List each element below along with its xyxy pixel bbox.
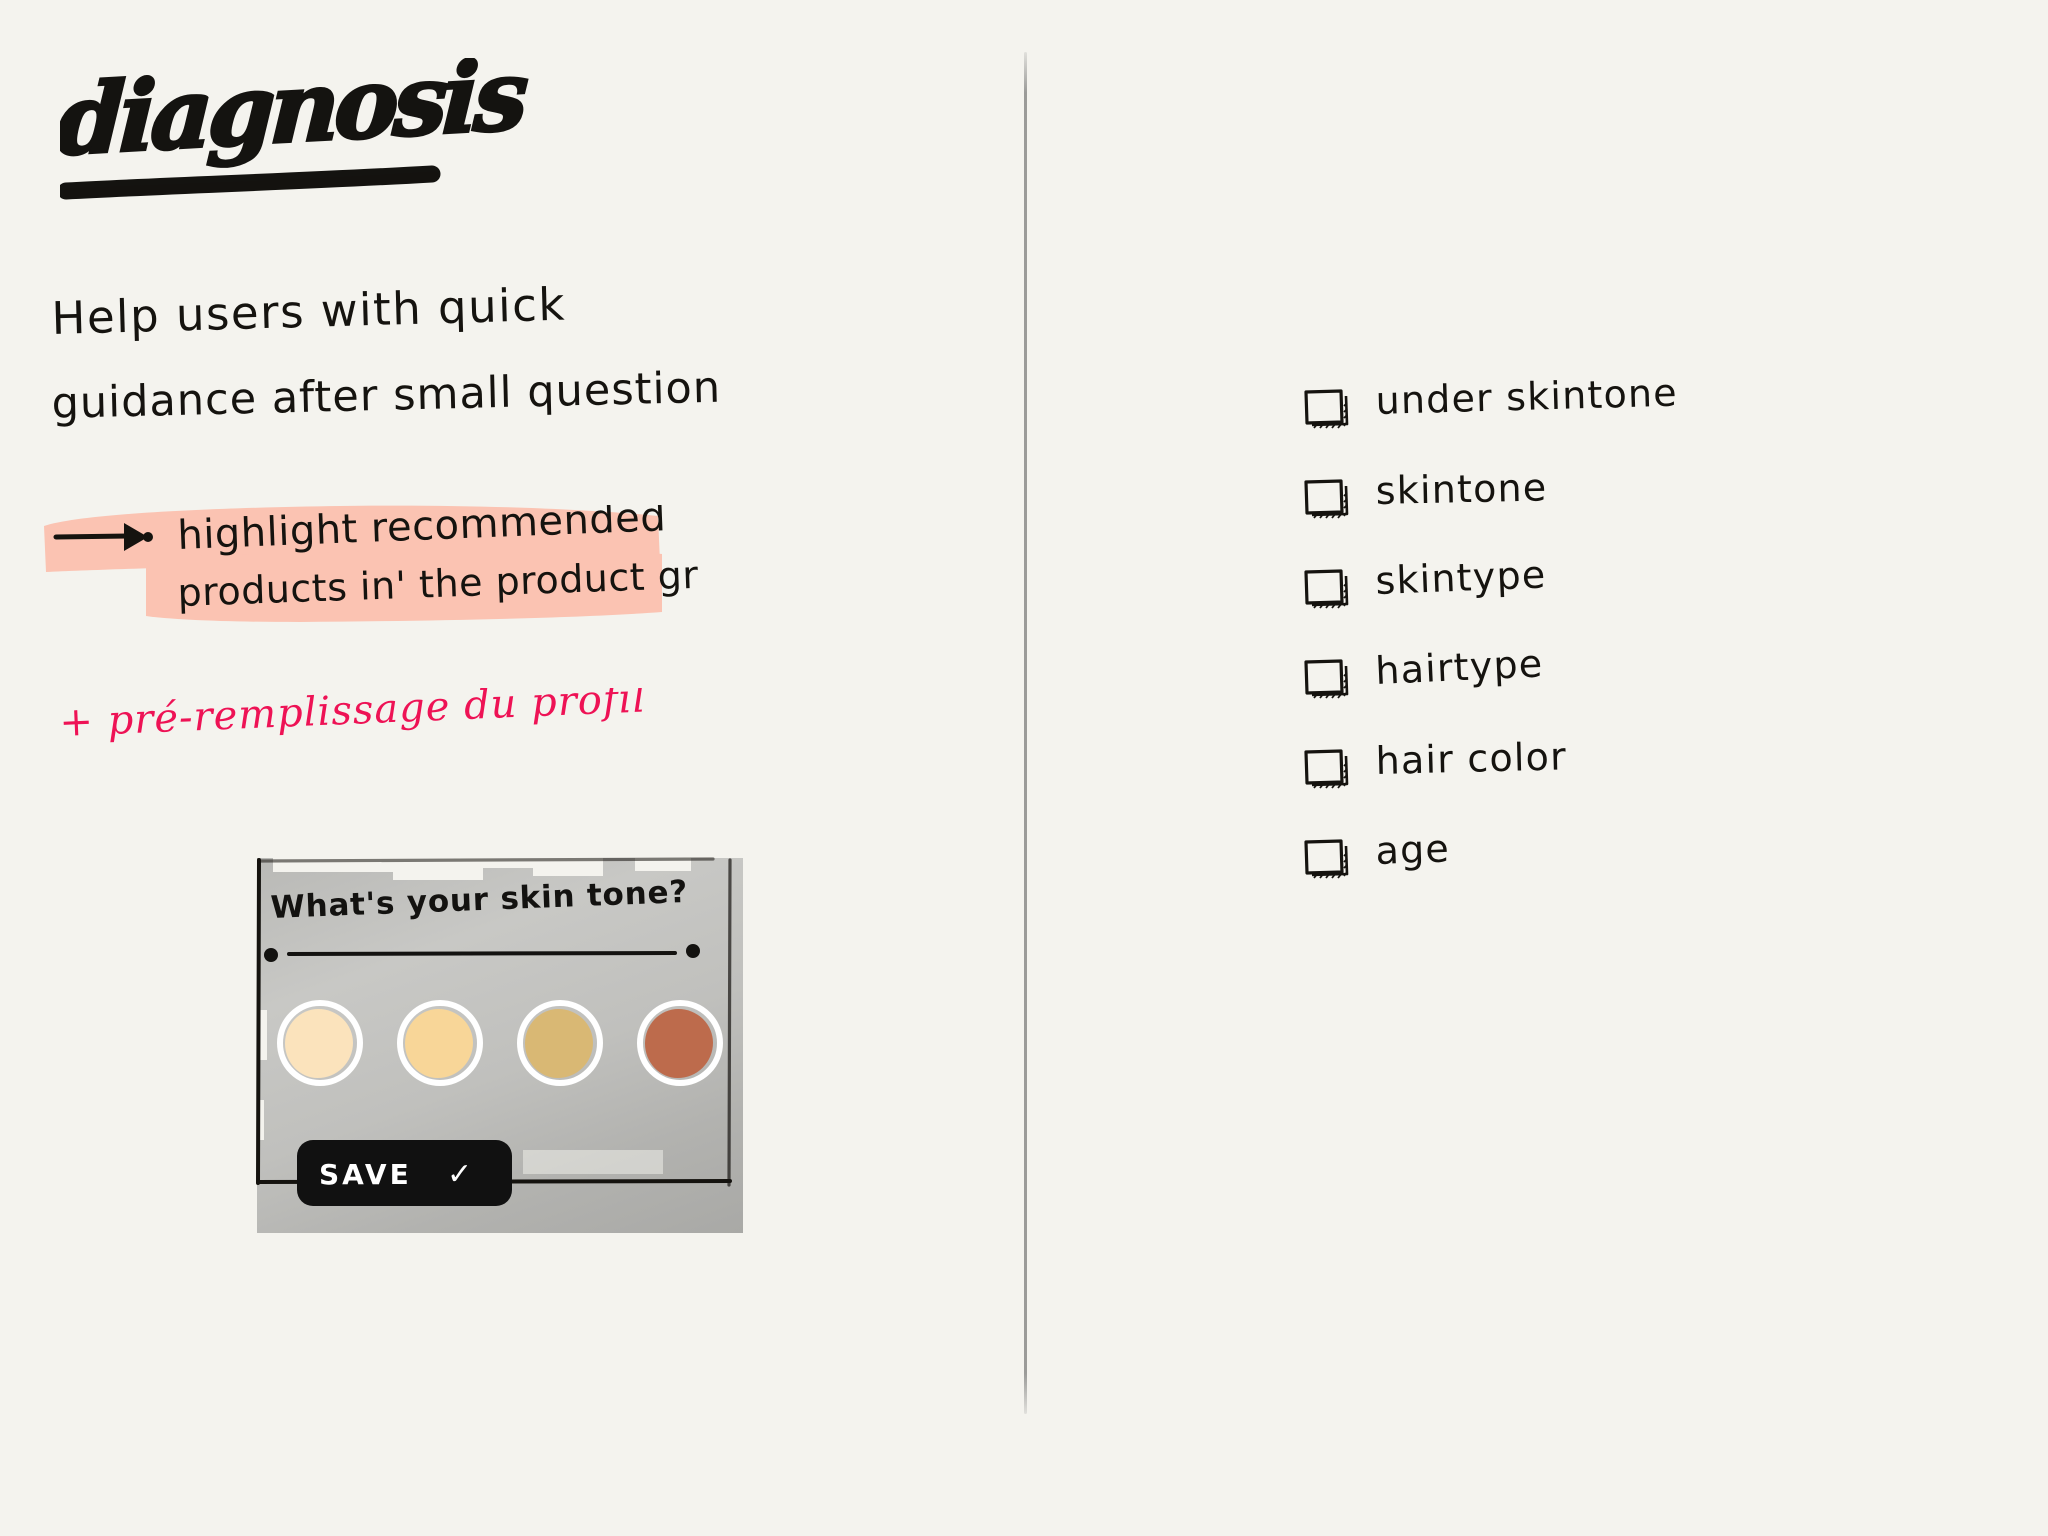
column-divider [1024, 52, 1027, 1414]
save-button[interactable]: SAVE ✓ [297, 1140, 512, 1206]
skin-tone-swatch-row[interactable] [277, 1000, 723, 1086]
whiteboard-canvas: diagnosis Help users with quick guidance… [0, 0, 2048, 1536]
checklist-label-text: skintype [1375, 552, 1548, 603]
page-title-text: diagnosis [60, 58, 530, 178]
skin-tone-mockup-card[interactable]: What's your skin tone? [243, 850, 743, 1245]
checklist-item-hair-color[interactable]: hair color [1300, 738, 1940, 828]
checklist-label-text: age [1375, 826, 1451, 873]
checkbox-icon[interactable] [1300, 834, 1352, 886]
checklist-label: hair color [1376, 734, 1836, 790]
checklist-label: skintype [1376, 554, 1836, 610]
card-question: What's your skin tone? [271, 878, 691, 938]
slider-track[interactable] [289, 953, 675, 954]
checkbox-icon[interactable] [1300, 564, 1352, 616]
checklist-label-text: skintone [1375, 465, 1548, 513]
swatch-light[interactable] [397, 1000, 483, 1086]
body-text-line-2: guidance after small question [52, 372, 732, 436]
checkbox-icon[interactable] [1300, 384, 1352, 436]
checklist-label: hairtype [1376, 644, 1836, 700]
body-text-line-1: Help users with quick [52, 288, 692, 352]
checklist-label: age [1376, 824, 1836, 880]
swatch-medium-fill [525, 1009, 593, 1078]
french-note: + pré-remplissage du profil [60, 688, 700, 762]
checklist-label-text: hairtype [1374, 641, 1544, 693]
skin-tone-slider[interactable] [263, 942, 713, 966]
highlight-text-line-1-text: highlight recommended [178, 505, 667, 559]
body-text-line-2-text: guidance after small question [51, 363, 722, 429]
slider-handle-right[interactable] [686, 944, 700, 958]
checklist-label: skintone [1376, 464, 1836, 520]
highlight-text-line-2-text: products in' the product grid [178, 562, 698, 615]
checklist-label: under skintone [1376, 374, 1836, 430]
page-title: diagnosis [60, 58, 620, 218]
checklist-label-text: hair color [1375, 734, 1567, 783]
arrow-right-icon [52, 516, 162, 562]
highlight-text-line-1: highlight recommended [178, 505, 698, 569]
swatch-deep-fill [645, 1009, 713, 1078]
checklist-item-under-skintone[interactable]: under skintone [1300, 378, 1940, 468]
checklist-label-text: under skintone [1375, 371, 1678, 423]
checklist-item-skintone[interactable]: skintone [1300, 468, 1940, 558]
swatch-deep[interactable] [637, 1000, 723, 1086]
checkbox-icon[interactable] [1300, 654, 1352, 706]
checkbox-icon[interactable] [1300, 474, 1352, 526]
swatch-fair[interactable] [277, 1000, 363, 1086]
attribute-checklist: under skintone skintone [1300, 378, 1940, 918]
checklist-item-hairtype[interactable]: hairtype [1300, 648, 1940, 738]
card-question-text: What's your skin tone? [271, 878, 689, 926]
save-check-icon: ✓ [447, 1157, 472, 1192]
checkbox-icon[interactable] [1300, 744, 1352, 796]
french-note-text: + pré-remplissage du profil [60, 688, 647, 746]
swatch-light-fill [405, 1009, 473, 1078]
swatch-fair-fill [285, 1009, 353, 1078]
highlight-text-line-2: products in' the product grid [178, 562, 698, 626]
body-text-line-1-text: Help users with quick [51, 278, 567, 345]
save-button-label: SAVE [319, 1158, 412, 1191]
swatch-medium[interactable] [517, 1000, 603, 1086]
checklist-item-skintype[interactable]: skintype [1300, 558, 1940, 648]
left-column: diagnosis Help users with quick guidance… [0, 0, 1024, 1536]
slider-handle-left[interactable] [264, 948, 278, 962]
checklist-item-age[interactable]: age [1300, 828, 1940, 918]
